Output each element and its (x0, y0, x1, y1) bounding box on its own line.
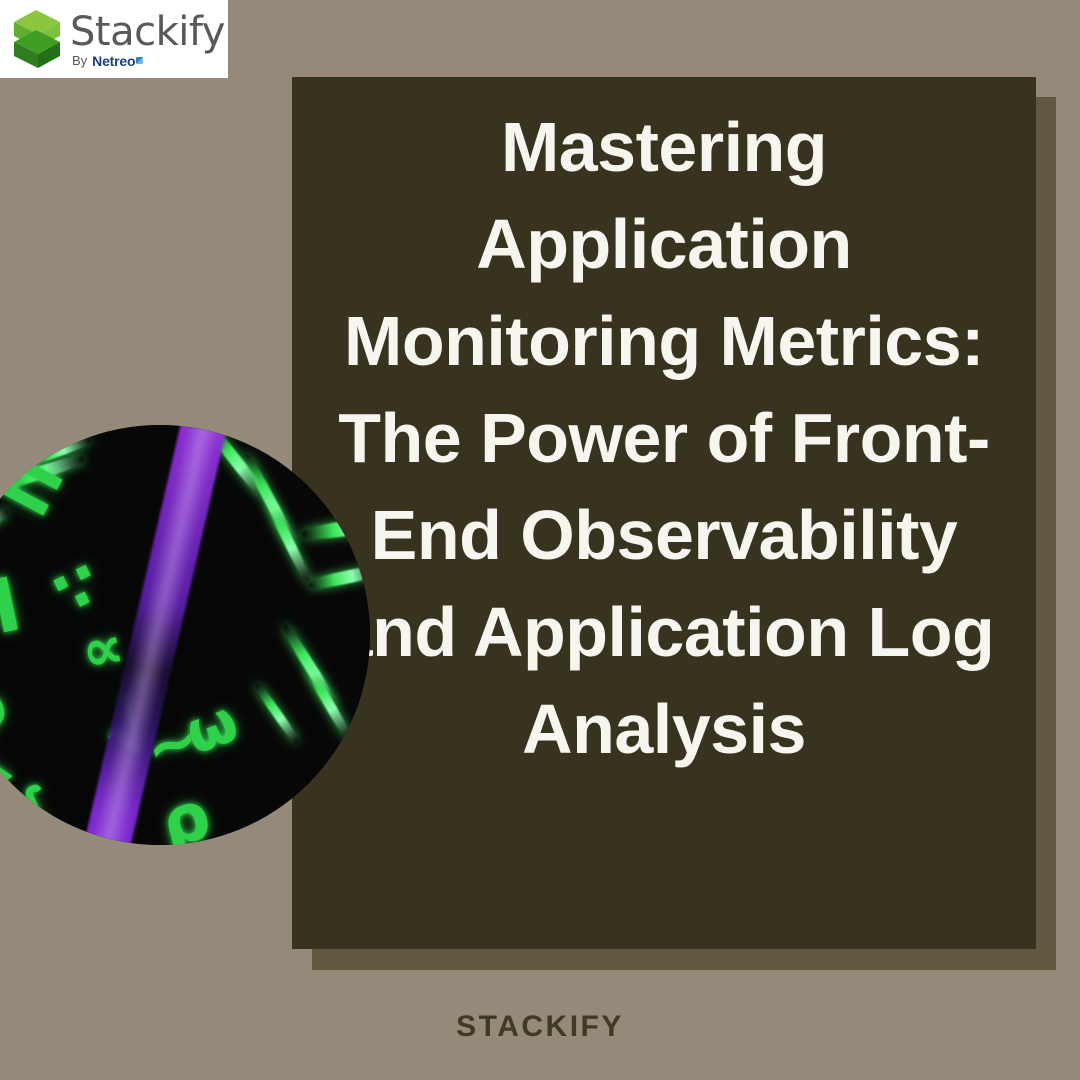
poster-canvas: Mastering Application Monitoring Metrics… (0, 0, 1080, 1080)
footer-brand: STACKIFY (0, 1010, 1080, 1044)
photo-glyph: ∫ (7, 773, 68, 845)
title-panel: Mastering Application Monitoring Metrics… (292, 77, 1036, 949)
logo-byline: By Netreo (72, 54, 225, 68)
light-streak (263, 496, 312, 583)
light-streak (301, 515, 370, 542)
light-streak (0, 507, 11, 547)
photo-glyph: ρ (153, 776, 217, 845)
logo-text-group: Stackify By Netreo (70, 11, 225, 68)
brand-logo-card[interactable]: Stackify By Netreo (0, 0, 228, 78)
circular-photo: Π ∫ Π ∥ ∵ ∝ Φ λ ∫ √ ∼ ω ρ (0, 425, 370, 845)
light-streak (307, 563, 370, 591)
photo-background: Π ∫ Π ∥ ∵ ∝ Φ λ ∫ √ ∼ ω ρ (0, 425, 370, 845)
photo-glyph: ∝ (76, 612, 128, 686)
logo-by-label: By (72, 54, 87, 67)
photo-glyph: Φ (0, 670, 19, 761)
photo-glyph: Π (0, 562, 28, 659)
netreo-mark-icon (136, 57, 143, 64)
logo-parent-brand: Netreo (92, 54, 135, 68)
logo-wordmark: Stackify (70, 11, 225, 53)
page-title: Mastering Application Monitoring Metrics… (292, 99, 1036, 778)
stackify-s-icon (8, 8, 66, 70)
light-streak (253, 682, 301, 745)
light-streak (303, 663, 354, 741)
